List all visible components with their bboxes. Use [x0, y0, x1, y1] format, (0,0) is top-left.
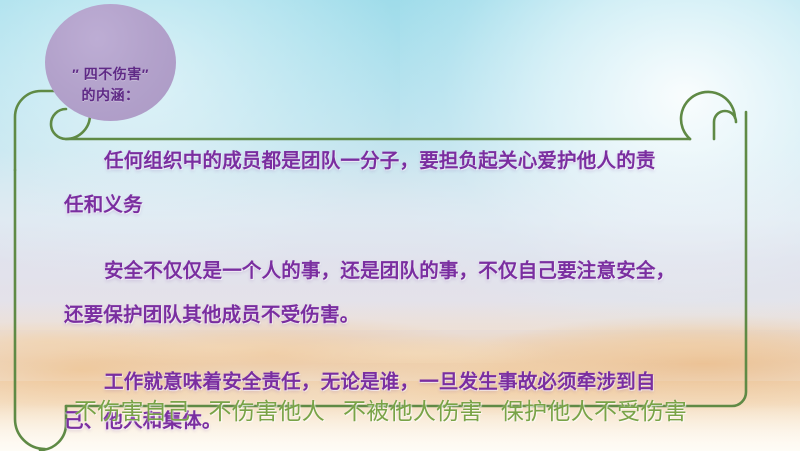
footer-item-3: 不被他人伤害: [343, 398, 483, 424]
paragraph-1-line-1: 任何组织中的成员都是团队一分子，要担负起关心爱护他人的责: [64, 140, 656, 182]
body-text-block: 任何组织中的成员都是团队一分子，要担负起关心爱护他人的责 任和义务 安全不仅仅是…: [0, 0, 800, 451]
footer-item-2: 不伤害他人: [209, 398, 326, 424]
paragraph-1-line-1-text: 任何组织中的成员都是团队一分子，要担负起关心爱护他人的责: [104, 150, 656, 172]
footer-slogan: 不伤害自己不伤害他人不被他人伤害保护他人不受伤害: [74, 392, 687, 426]
paragraph-1-line-2: 任和义务: [64, 184, 143, 226]
paragraph-3-line-1-text: 工作就意味着安全责任，无论是谁，一旦发生事故必须牵涉到自: [104, 371, 656, 393]
footer-item-1: 不伤害自己: [74, 398, 191, 424]
paragraph-2-line-1: 安全不仅仅是一个人的事，还是团队的事，不仅自己要注意安全，: [64, 250, 675, 292]
paragraph-2-line-1-text: 安全不仅仅是一个人的事，还是团队的事，不仅自己要注意安全，: [104, 260, 675, 282]
footer-item-4: 保护他人不受伤害: [501, 398, 687, 424]
paragraph-2-line-2: 还要保护团队其他成员不受伤害。: [64, 294, 360, 336]
slide-canvas: ″ 四不伤害″ 的内涵： 任何组织中的成员都是团队一分子，要担负起关心爱护他人的…: [0, 0, 800, 451]
